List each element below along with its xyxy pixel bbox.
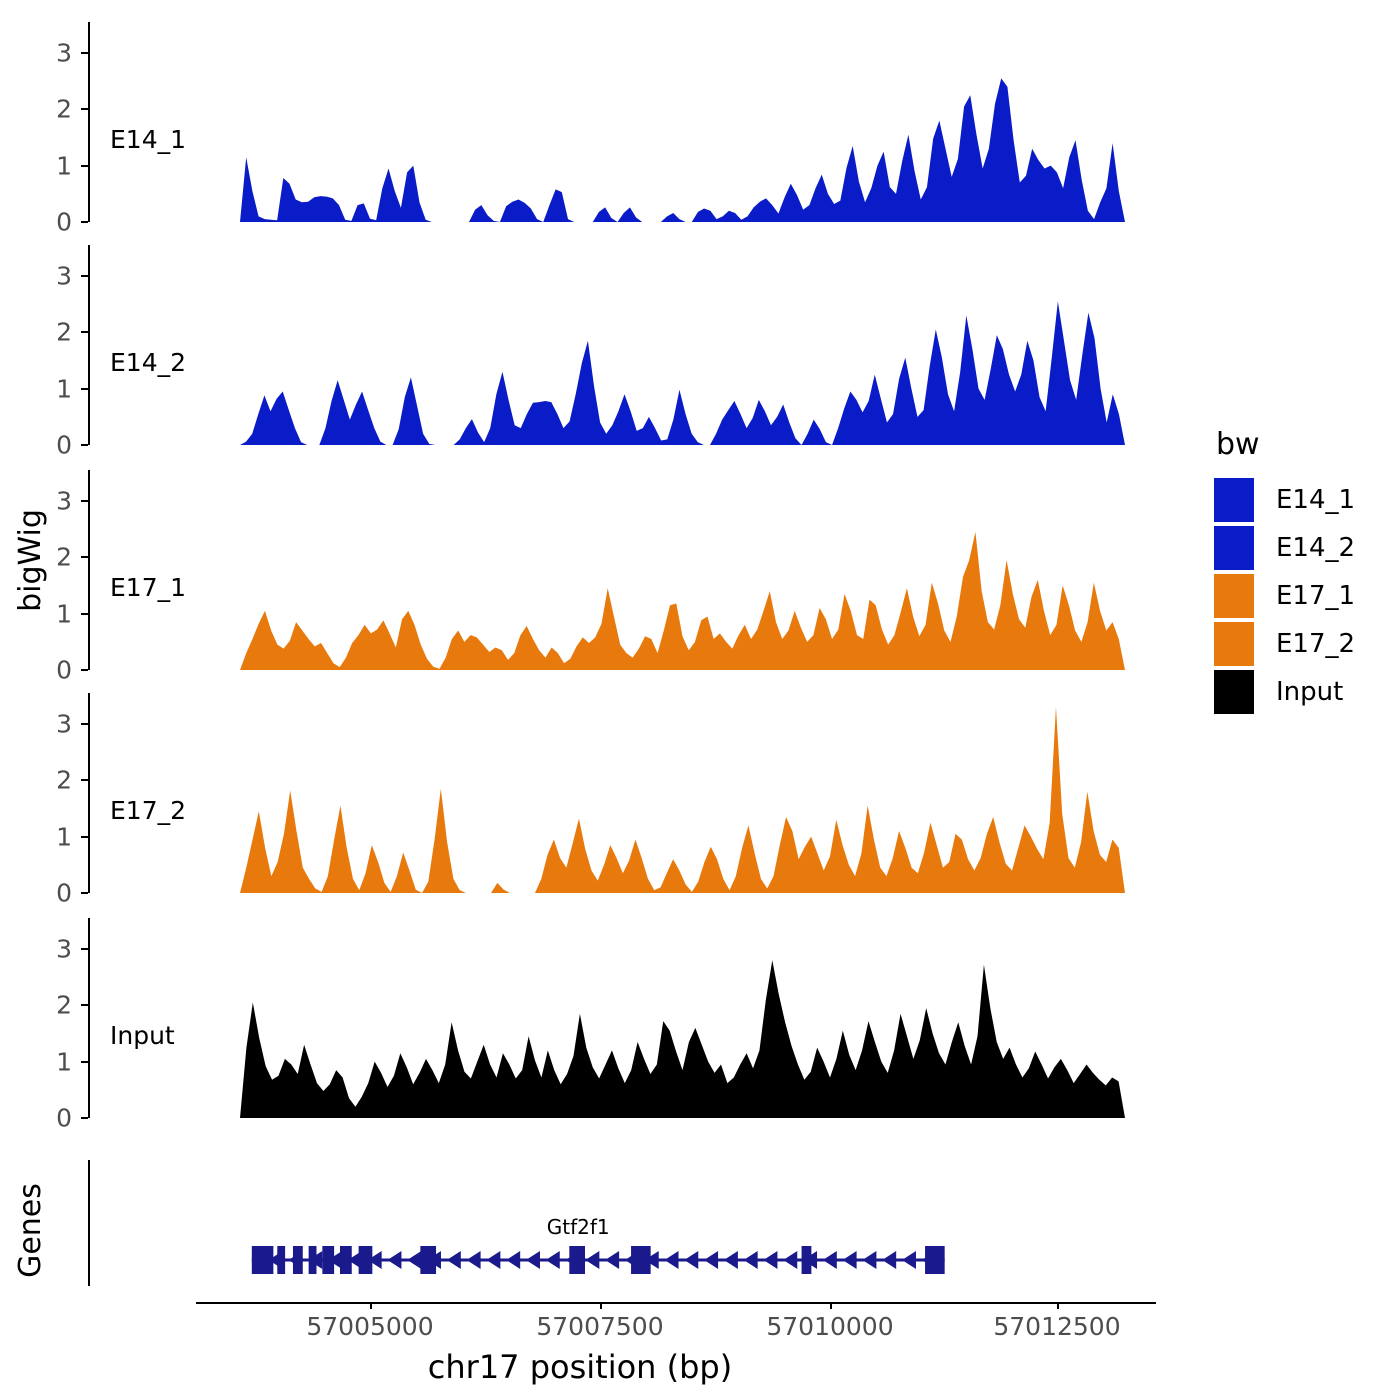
y-tick (81, 275, 88, 277)
y-tick (81, 444, 88, 446)
track-area-input (240, 918, 1125, 1118)
y-tick (81, 1061, 88, 1063)
y-tick-label: 1 (56, 824, 72, 849)
legend-item-e14_2[interactable]: E14_2 (1214, 524, 1394, 572)
y-tick (81, 108, 88, 110)
legend-label: E14_1 (1276, 485, 1355, 515)
track-label-e14_1: E14_1 (110, 125, 186, 154)
y-tick-label: 3 (56, 711, 72, 736)
legend-item-e14_1[interactable]: E14_1 (1214, 476, 1394, 524)
y-tick-label: 2 (56, 768, 72, 793)
track-panel-e17_2: 0123E17_2 (88, 693, 1125, 893)
y-axis-line (88, 918, 90, 1118)
legend-label: Input (1276, 677, 1343, 707)
y-tick (81, 892, 88, 894)
track-panel-e17_1: 0123E17_1 (88, 470, 1125, 670)
legend-swatch (1214, 526, 1254, 570)
legend: bw E14_1E14_2E17_1E17_2Input (1214, 430, 1394, 716)
y-tick (81, 500, 88, 502)
y-tick-label: 1 (56, 376, 72, 401)
y-tick-label: 0 (56, 210, 72, 235)
legend-item-e17_1[interactable]: E17_1 (1214, 572, 1394, 620)
y-tick-label: 2 (56, 320, 72, 345)
y-tick (81, 948, 88, 950)
track-area-e17_1 (240, 470, 1125, 670)
x-tick (1057, 1302, 1059, 1309)
y-tick-label: 1 (56, 1049, 72, 1074)
y-tick (81, 221, 88, 223)
y-tick-label: 1 (56, 601, 72, 626)
track-area-e14_2 (240, 245, 1125, 445)
track-panel-e14_1: 0123E14_1 (88, 22, 1125, 222)
y-tick-label: 3 (56, 40, 72, 65)
y-tick-label: 3 (56, 936, 72, 961)
y-tick-label: 2 (56, 545, 72, 570)
y-tick-label: 0 (56, 881, 72, 906)
y-axis-line (88, 245, 90, 445)
legend-label: E17_2 (1276, 629, 1355, 659)
track-area-e17_2 (240, 693, 1125, 893)
track-label-e17_1: E17_1 (110, 573, 186, 602)
y-tick (81, 556, 88, 558)
genes-axis-title: Genes (8, 1155, 52, 1305)
plot-root: bigWig Genes 0123E14_10123E14_20123E17_1… (0, 0, 1400, 1400)
y-tick-label: 3 (56, 263, 72, 288)
track-label-e14_2: E14_2 (110, 348, 186, 377)
y-tick (81, 165, 88, 167)
legend-item-e17_2[interactable]: E17_2 (1214, 620, 1394, 668)
x-tick (370, 1302, 372, 1309)
legend-swatch (1214, 574, 1254, 618)
y-tick (81, 836, 88, 838)
track-panel-input: 0123Input (88, 918, 1125, 1118)
legend-swatch (1214, 622, 1254, 666)
y-tick-label: 2 (56, 97, 72, 122)
y-axis-line (88, 693, 90, 893)
x-tick-label: 57012500 (993, 1314, 1120, 1339)
legend-items: E14_1E14_2E17_1E17_2Input (1214, 476, 1394, 716)
track-panel-e14_2: 0123E14_2 (88, 245, 1125, 445)
x-tick (830, 1302, 832, 1309)
legend-swatch (1214, 670, 1254, 714)
x-tick-label: 57007500 (536, 1314, 663, 1339)
y-tick-label: 0 (56, 658, 72, 683)
y-axis-line (88, 22, 90, 222)
y-tick-label: 1 (56, 153, 72, 178)
y-tick-label: 3 (56, 488, 72, 513)
legend-swatch (1214, 478, 1254, 522)
x-axis-line (196, 1302, 1156, 1304)
track-area-e14_1 (240, 22, 1125, 222)
y-tick (81, 669, 88, 671)
y-tick (81, 779, 88, 781)
x-axis-title: chr17 position (bp) (0, 1348, 1160, 1386)
legend-label: E14_2 (1276, 533, 1355, 563)
y-tick-label: 2 (56, 993, 72, 1018)
y-tick (81, 613, 88, 615)
y-tick (81, 331, 88, 333)
track-label-e17_2: E17_2 (110, 796, 186, 825)
y-tick (81, 1117, 88, 1119)
legend-label: E17_1 (1276, 581, 1355, 611)
y-axis-title: bigWig (10, 400, 50, 720)
y-tick-label: 0 (56, 1106, 72, 1131)
track-label-input: Input (110, 1021, 175, 1050)
y-tick (81, 723, 88, 725)
legend-item-input[interactable]: Input (1214, 668, 1394, 716)
y-axis-line (88, 470, 90, 670)
x-tick-label: 57010000 (766, 1314, 893, 1339)
x-tick (600, 1302, 602, 1309)
x-tick-label: 57005000 (306, 1314, 433, 1339)
y-tick (81, 1004, 88, 1006)
y-tick (81, 52, 88, 54)
legend-title: bw (1216, 430, 1394, 460)
y-tick (81, 388, 88, 390)
y-tick-label: 0 (56, 433, 72, 458)
